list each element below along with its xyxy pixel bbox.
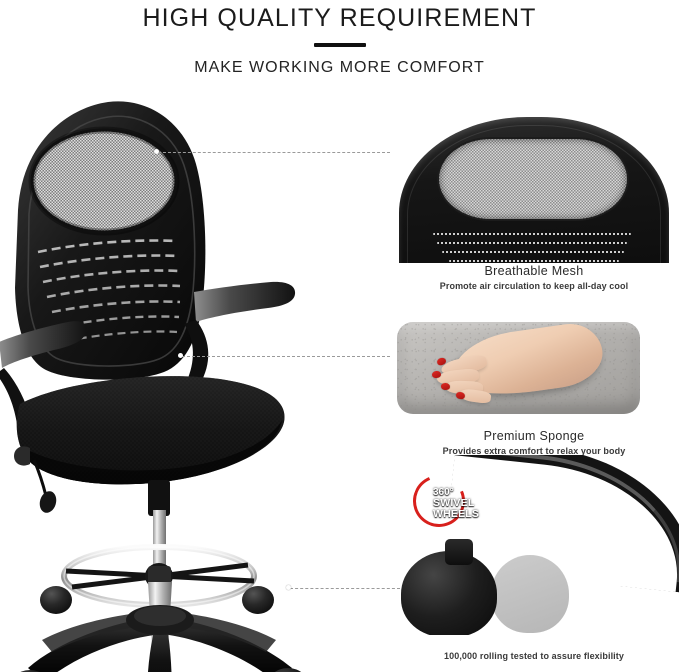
connector-dot-caster xyxy=(286,585,291,590)
caption-mesh: Breathable Mesh Promote air circulation … xyxy=(389,264,679,291)
chair-base xyxy=(28,605,292,672)
caster-stem xyxy=(445,539,473,565)
feature-panel-sponge xyxy=(389,318,679,420)
caster-rotation-ghost xyxy=(491,555,569,633)
caption-sponge: Premium Sponge Provides extra comfort to… xyxy=(389,429,679,456)
feature-panel-mesh xyxy=(389,103,679,263)
infographic-page: HIGH QUALITY REQUIREMENT MAKE WORKING MO… xyxy=(0,0,679,672)
connector-dot-mesh xyxy=(154,149,159,154)
connector-line-sponge xyxy=(182,356,390,357)
caption-caster: 100,000 rolling tested to assure flexibi… xyxy=(389,648,679,661)
header: HIGH QUALITY REQUIREMENT MAKE WORKING MO… xyxy=(0,0,679,77)
mesh-closeup-shell xyxy=(399,117,669,263)
connector-dot-sponge xyxy=(178,353,183,358)
page-title: HIGH QUALITY REQUIREMENT xyxy=(0,0,679,33)
mesh-closeup-vents xyxy=(431,233,639,263)
title-divider xyxy=(314,43,366,47)
height-lever-handle xyxy=(37,489,58,515)
swivel-badge: 360° SWIVEL WHEELS xyxy=(433,487,525,520)
armrest-right xyxy=(194,282,295,322)
connector-line-caster xyxy=(290,588,400,589)
feature-title-mesh: Breathable Mesh xyxy=(389,264,679,278)
feature-subtitle-caster: 100,000 rolling tested to assure flexibi… xyxy=(389,651,679,661)
seat-mechanism xyxy=(14,446,30,465)
connector-line-mesh xyxy=(158,152,390,153)
feature-title-sponge: Premium Sponge xyxy=(389,429,679,443)
nail-ring xyxy=(441,383,450,391)
chair-illustration xyxy=(0,92,396,672)
feature-panel-caster: 360° SWIVEL WHEELS xyxy=(389,455,679,635)
caster-back-right xyxy=(242,586,274,614)
page-subtitle: MAKE WORKING MORE COMFORT xyxy=(0,59,679,77)
caster-back-left xyxy=(40,586,72,614)
mesh-closeup-panel xyxy=(439,139,627,219)
feature-subtitle-mesh: Promote air circulation to keep all-day … xyxy=(389,281,679,291)
swivel-line2: WHEELS xyxy=(433,509,525,520)
